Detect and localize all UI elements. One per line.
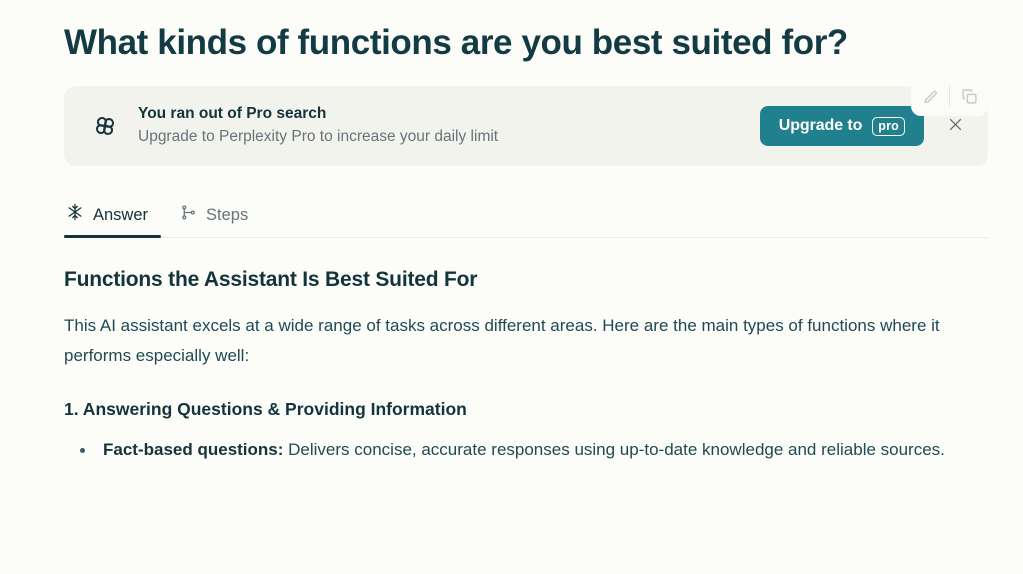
tab-answer[interactable]: Answer: [64, 203, 152, 238]
close-icon: [947, 116, 964, 136]
answer-heading: Functions the Assistant Is Best Suited F…: [64, 266, 988, 294]
title-row: What kinds of functions are you best sui…: [0, 0, 1023, 65]
answer-bullet-list: Fact-based questions: Delivers concise, …: [64, 435, 988, 465]
git-branch-icon: [180, 204, 197, 226]
edit-button[interactable]: [911, 77, 949, 115]
perplexity-logo-icon: [88, 109, 122, 143]
copy-button[interactable]: [950, 77, 988, 115]
answer-content: Functions the Assistant Is Best Suited F…: [64, 238, 988, 465]
tabs-divider: [64, 237, 988, 238]
page-title: What kinds of functions are you best sui…: [64, 20, 884, 65]
bullet-lead: Fact-based questions:: [103, 440, 283, 459]
list-item: Fact-based questions: Delivers concise, …: [64, 435, 988, 465]
upgrade-to-pro-button[interactable]: Upgrade to pro: [760, 106, 924, 146]
tab-steps[interactable]: Steps: [178, 204, 252, 238]
title-action-bar: [911, 76, 988, 116]
answer-page: What kinds of functions are you best sui…: [0, 0, 1023, 574]
active-tab-underline: [64, 235, 161, 238]
tab-answer-label: Answer: [93, 205, 148, 225]
banner-title: You ran out of Pro search: [138, 103, 760, 125]
banner-subtitle: Upgrade to Perplexity Pro to increase yo…: [138, 125, 760, 149]
banner-text: You ran out of Pro search Upgrade to Per…: [138, 103, 760, 149]
bullet-text: Delivers concise, accurate responses usi…: [283, 440, 944, 459]
answer-section-heading: 1. Answering Questions & Providing Infor…: [64, 396, 988, 422]
tab-steps-label: Steps: [206, 205, 248, 225]
answer-tabs: Answer Steps: [64, 194, 988, 238]
sparkle-icon: [66, 203, 84, 226]
pro-badge: pro: [872, 117, 905, 136]
pro-limit-banner: You ran out of Pro search Upgrade to Per…: [64, 86, 988, 166]
copy-icon: [961, 88, 978, 105]
edit-icon: [922, 88, 939, 105]
answer-intro-paragraph: This AI assistant excels at a wide range…: [64, 311, 988, 371]
upgrade-button-label: Upgrade to: [779, 117, 862, 135]
